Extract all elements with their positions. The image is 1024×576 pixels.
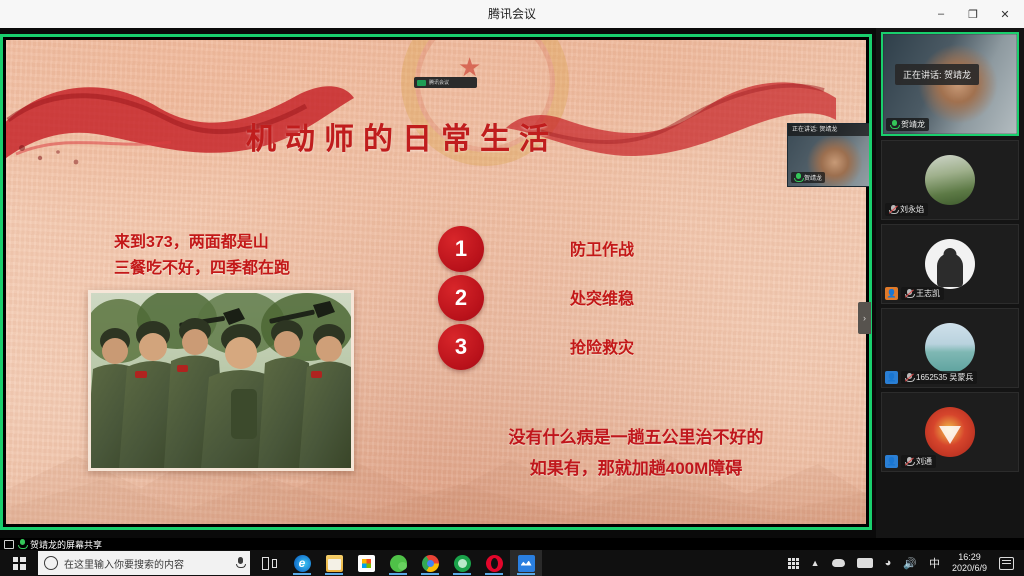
microsoft-store-icon bbox=[358, 555, 375, 572]
participant-name-chip: 刘通 bbox=[901, 455, 936, 468]
action-center-button[interactable] bbox=[993, 550, 1020, 576]
file-explorer-icon bbox=[326, 555, 343, 572]
microphone-muted-icon bbox=[905, 373, 913, 382]
numbered-item-3: 3 抢险救灾 bbox=[438, 324, 698, 372]
microphone-on-icon bbox=[890, 120, 898, 129]
participant-name: 刘永焰 bbox=[900, 204, 924, 215]
avatar bbox=[925, 323, 975, 373]
numbered-item-1-label: 防卫作战 bbox=[570, 236, 634, 260]
slogan-line-2: 三餐吃不好，四季都在跑 bbox=[114, 256, 404, 282]
numbered-list: 1 防卫作战 2 处突维稳 3 抢险救灾 bbox=[438, 226, 698, 373]
notification-icon bbox=[999, 557, 1014, 570]
microphone-muted-icon bbox=[905, 457, 913, 466]
participant-badge-icon: 👤 bbox=[885, 371, 898, 384]
meeting-body: ★ 机动 bbox=[0, 28, 1024, 538]
minimize-button[interactable]: – bbox=[926, 1, 956, 27]
start-button[interactable] bbox=[0, 550, 38, 576]
participant-name-chip: 刘永焰 bbox=[885, 203, 928, 216]
microphone-on-icon bbox=[794, 173, 802, 182]
participant-nameplate: 刘永焰 bbox=[885, 203, 928, 216]
touch-keyboard-icon bbox=[788, 558, 799, 569]
participant-name: 1652535 吴蒙兵 bbox=[916, 372, 973, 383]
wifi-icon: ◕ bbox=[885, 557, 892, 569]
tray-item-network[interactable]: ◕ bbox=[879, 550, 898, 576]
floating-video-speaking-label: 正在讲话: 贺靖龙 bbox=[788, 124, 872, 136]
taskbar-item-opera[interactable] bbox=[478, 550, 510, 576]
slide-bottom-quote: 没有什么病是一趟五公里治不好的 如果有，那就加趟400M障碍 bbox=[426, 422, 846, 485]
tray-item-ime[interactable]: 中 bbox=[923, 550, 946, 576]
taskbar-item-edge[interactable]: e bbox=[286, 550, 318, 576]
wechat-icon bbox=[390, 555, 407, 572]
tray-item-volume[interactable]: 🔊 bbox=[897, 550, 923, 576]
shared-screen-frame[interactable]: ★ 机动 bbox=[0, 34, 872, 530]
floating-self-video[interactable]: 正在讲话: 贺靖龙 贺靖龙 bbox=[787, 123, 872, 187]
taskbar-clock[interactable]: 16:29 2020/6/9 bbox=[946, 552, 993, 575]
microphone-icon[interactable] bbox=[236, 557, 244, 569]
taskbar-item-file-explorer[interactable] bbox=[318, 550, 350, 576]
speaking-tooltip: 正在讲话: 贺靖龙 bbox=[895, 64, 979, 85]
slogan-line-1: 来到373，两面都是山 bbox=[114, 230, 404, 256]
close-button[interactable]: ✕ bbox=[990, 1, 1020, 27]
share-toolbar-label: 腾讯会议 bbox=[429, 79, 449, 86]
microphone-muted-icon bbox=[905, 289, 913, 298]
windows-logo-icon bbox=[13, 557, 26, 570]
participant-tile-4[interactable]: 👤 刘通 bbox=[881, 392, 1019, 472]
number-badge-3: 3 bbox=[438, 324, 484, 370]
participant-nameplate: 👤 刘通 bbox=[885, 455, 936, 468]
collapse-sidebar-chevron-right-icon[interactable]: › bbox=[858, 302, 871, 334]
participant-name: 刘通 bbox=[916, 456, 932, 467]
cortana-circle-icon bbox=[44, 556, 58, 570]
avatar bbox=[925, 407, 975, 457]
taskbar-item-360-browser[interactable] bbox=[446, 550, 478, 576]
host-badge-icon: 👤 bbox=[885, 287, 898, 300]
participant-name: 王志凯 bbox=[916, 288, 940, 299]
chrome-icon bbox=[422, 555, 439, 572]
window-controls: – ❐ ✕ bbox=[926, 0, 1020, 28]
slide-slogan: 来到373，两面都是山 三餐吃不好，四季都在跑 bbox=[114, 230, 404, 283]
share-toolbar-pill[interactable]: 腾讯会议 bbox=[414, 77, 477, 88]
avatar bbox=[925, 239, 975, 289]
tray-item-keyboard[interactable] bbox=[782, 550, 805, 576]
participant-nameplate: 👤 王志凯 bbox=[885, 287, 944, 300]
taskbar-search-input[interactable]: 在这里输入你要搜索的内容 bbox=[38, 551, 250, 575]
participant-name: 贺靖龙 bbox=[901, 119, 925, 130]
taskbar-item-tencent-meeting[interactable] bbox=[510, 550, 542, 576]
numbered-item-2-label: 处突维稳 bbox=[570, 285, 634, 309]
window-title: 腾讯会议 bbox=[0, 0, 1024, 28]
soldiers-photo bbox=[88, 290, 354, 471]
screen-share-status-bar: 贺靖龙的屏幕共享 bbox=[0, 538, 1024, 550]
microphone-on-icon bbox=[18, 539, 26, 549]
floating-video-nameplate: 贺靖龙 bbox=[791, 172, 825, 183]
tencent-meeting-icon bbox=[518, 555, 535, 572]
participant-badge-icon: 👤 bbox=[885, 455, 898, 468]
system-tray: ▲ ◕ 🔊 中 16:29 2020/6/9 bbox=[782, 550, 1020, 576]
number-badge-2: 2 bbox=[438, 275, 484, 321]
taskbar-app-icons: e bbox=[254, 550, 542, 576]
participant-tile-2[interactable]: 👤 王志凯 bbox=[881, 224, 1019, 304]
ime-indicator: 中 bbox=[929, 555, 940, 571]
participant-tile-1[interactable]: 刘永焰 bbox=[881, 140, 1019, 220]
monitor-icon bbox=[4, 540, 14, 549]
cloud-icon bbox=[832, 559, 845, 567]
taskbar-item-wechat[interactable] bbox=[382, 550, 414, 576]
screen-share-status-text: 贺靖龙的屏幕共享 bbox=[30, 538, 102, 551]
maximize-button[interactable]: ❐ bbox=[958, 1, 988, 27]
tray-item-onedrive[interactable] bbox=[826, 550, 851, 576]
taskbar-item-chrome[interactable] bbox=[414, 550, 446, 576]
numbered-item-3-label: 抢险救灾 bbox=[570, 334, 634, 358]
microphone-muted-icon bbox=[889, 205, 897, 214]
soldiers-photo-illustration-icon bbox=[91, 293, 351, 468]
edge-icon: e bbox=[294, 555, 311, 572]
numbered-item-1: 1 防卫作战 bbox=[438, 226, 698, 274]
participant-sidebar[interactable]: 贺靖龙 刘永焰 👤 王 bbox=[876, 28, 1024, 538]
participant-nameplate: 👤 1652535 吴蒙兵 bbox=[885, 371, 977, 384]
bottom-line-2: 如果有，那就加趟400M障碍 bbox=[426, 453, 846, 484]
windows-taskbar: 在这里输入你要搜索的内容 e bbox=[0, 550, 1024, 576]
taskbar-search-placeholder: 在这里输入你要搜索的内容 bbox=[64, 556, 230, 571]
participant-name-chip: 贺靖龙 bbox=[886, 118, 929, 131]
clock-date: 2020/6/9 bbox=[952, 563, 987, 574]
presentation-slide: ★ 机动 bbox=[6, 40, 866, 524]
task-view-icon bbox=[262, 557, 278, 570]
360-browser-icon bbox=[454, 555, 471, 572]
participant-name-chip: 王志凯 bbox=[901, 287, 944, 300]
opera-icon bbox=[486, 555, 503, 572]
window-titlebar: 腾讯会议 – ❐ ✕ bbox=[0, 0, 1024, 29]
clock-time: 16:29 bbox=[958, 552, 981, 563]
avatar bbox=[925, 155, 975, 205]
speaker-icon: 🔊 bbox=[903, 557, 917, 570]
share-toolbar-icon bbox=[417, 80, 426, 86]
floating-video-name: 贺靖龙 bbox=[804, 173, 822, 182]
number-badge-1: 1 bbox=[438, 226, 484, 272]
participant-nameplate: 贺靖龙 bbox=[886, 118, 929, 131]
tencent-meeting-window: 腾讯会议 – ❐ ✕ ★ bbox=[0, 0, 1024, 576]
slide-title: 机动师的日常生活 bbox=[246, 114, 646, 158]
chevron-up-icon: ▲ bbox=[811, 558, 820, 568]
taskbar-item-microsoft-store[interactable] bbox=[350, 550, 382, 576]
tray-expand-button[interactable]: ▲ bbox=[805, 550, 826, 576]
tray-item-battery[interactable] bbox=[851, 550, 879, 576]
participant-name-chip: 1652535 吴蒙兵 bbox=[901, 371, 977, 384]
battery-icon bbox=[857, 558, 873, 568]
participant-tile-3[interactable]: 👤 1652535 吴蒙兵 bbox=[881, 308, 1019, 388]
numbered-item-2: 2 处突维稳 bbox=[438, 275, 698, 323]
bottom-line-1: 没有什么病是一趟五公里治不好的 bbox=[426, 422, 846, 453]
taskbar-item-task-view[interactable] bbox=[254, 550, 286, 576]
